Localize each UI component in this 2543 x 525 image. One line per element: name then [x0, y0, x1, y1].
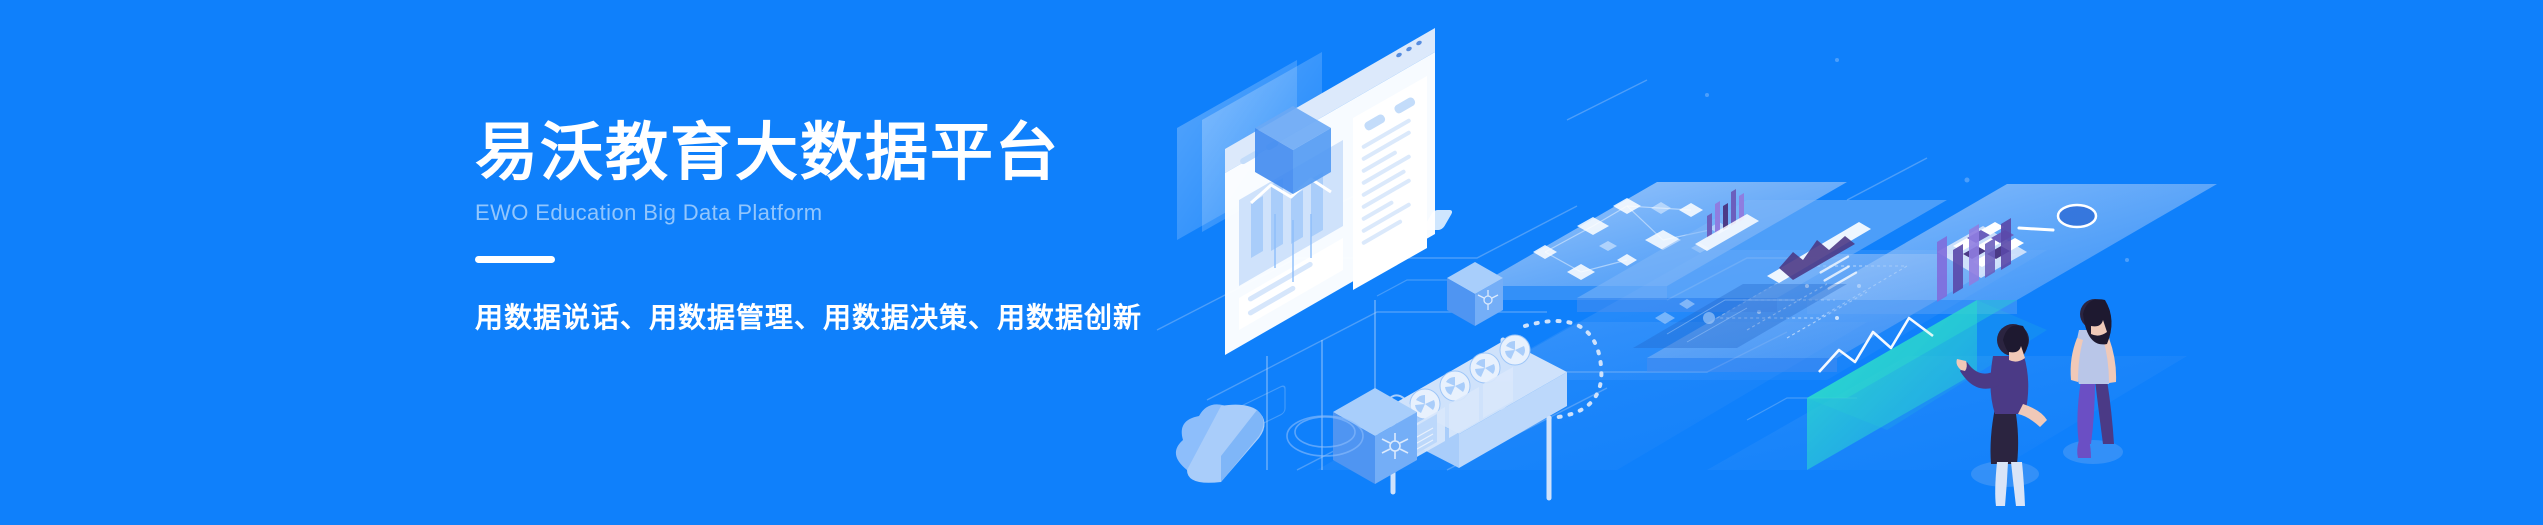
hero-banner: 易沃教育大数据平台 EWO Education Big Data Platfor… [0, 0, 2543, 525]
title-divider [475, 256, 555, 263]
hub-cube-icon-small [1447, 262, 1503, 326]
cloud-icon [1176, 404, 1265, 482]
isometric-big-data-illustration [1147, 0, 2347, 525]
